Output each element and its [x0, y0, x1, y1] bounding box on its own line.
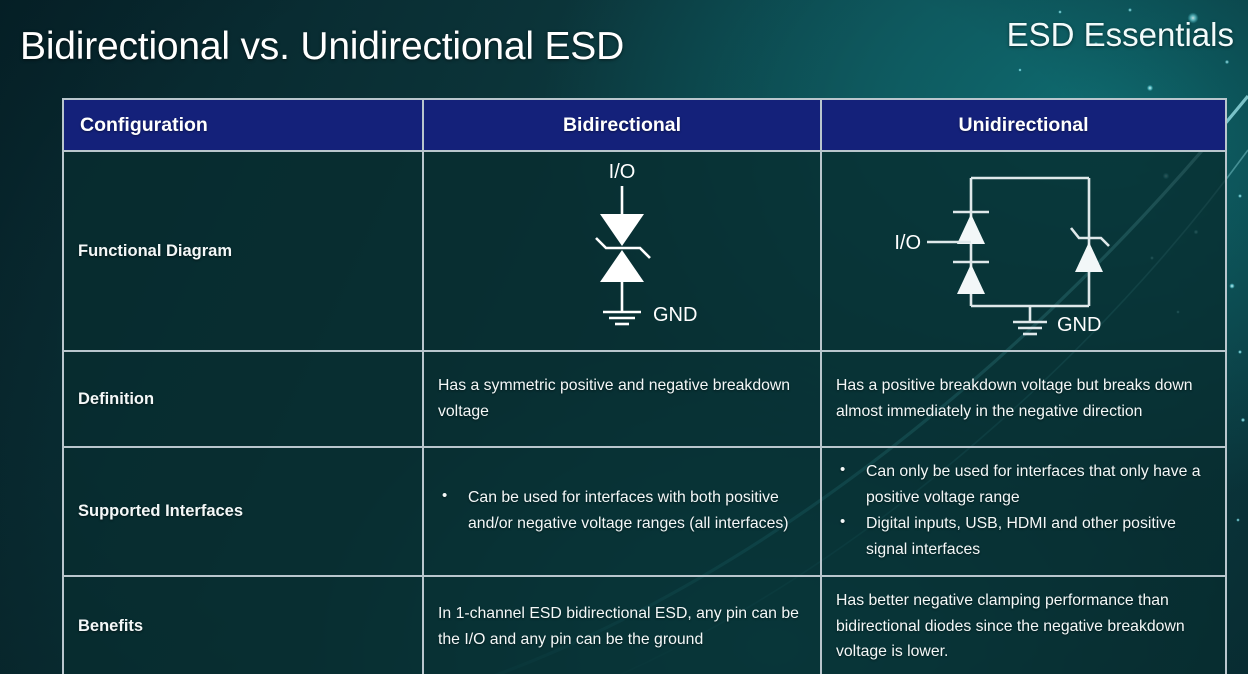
list-item: Can only be used for interfaces that onl… — [836, 459, 1211, 510]
cell-definition-unidirectional: Has a positive breakdown voltage but bre… — [821, 351, 1226, 447]
cell-bidirectional-diagram: I/O GN — [423, 151, 821, 351]
page-title: Bidirectional vs. Unidirectional ESD — [20, 25, 624, 69]
table-row: Benefits In 1-channel ESD bidirectional … — [63, 576, 1226, 674]
cell-benefits-bidirectional: In 1-channel ESD bidirectional ESD, any … — [423, 576, 821, 674]
list-item: Can be used for interfaces with both pos… — [438, 485, 806, 536]
brand-label: ESD Essentials — [1007, 16, 1234, 54]
comparison-table: Configuration Bidirectional Unidirection… — [62, 98, 1227, 674]
row-label-supported-interfaces: Supported Interfaces — [63, 447, 423, 576]
gnd-label: GND — [1057, 314, 1101, 336]
table-row: Functional Diagram I/O — [63, 151, 1226, 351]
slide-header: Bidirectional vs. Unidirectional ESD ESD… — [0, 0, 1248, 96]
bidirectional-tvs-diode-schematic: I/O GN — [497, 156, 747, 346]
column-header-unidirectional: Unidirectional — [821, 99, 1226, 151]
list-item: Digital inputs, USB, HDMI and other posi… — [836, 511, 1211, 562]
cell-definition-bidirectional: Has a symmetric positive and negative br… — [423, 351, 821, 447]
table-body: Functional Diagram I/O — [63, 151, 1226, 674]
table-row: Supported Interfaces Can be used for int… — [63, 447, 1226, 576]
cell-supported-interfaces-unidirectional: Can only be used for interfaces that onl… — [821, 447, 1226, 576]
bullet-list: Can only be used for interfaces that onl… — [836, 459, 1211, 563]
row-label-definition: Definition — [63, 351, 423, 447]
table-header-row: Configuration Bidirectional Unidirection… — [63, 99, 1226, 151]
table-header: Configuration Bidirectional Unidirection… — [63, 99, 1226, 151]
table-row: Definition Has a symmetric positive and … — [63, 351, 1226, 447]
io-label: I/O — [894, 232, 921, 254]
bullet-list: Can be used for interfaces with both pos… — [438, 485, 806, 536]
row-label-benefits: Benefits — [63, 576, 423, 674]
column-header-bidirectional: Bidirectional — [423, 99, 821, 151]
row-label-functional-diagram: Functional Diagram — [63, 151, 423, 351]
cell-unidirectional-diagram: I/O GND — [821, 151, 1226, 351]
cell-benefits-unidirectional: Has better negative clamping performance… — [821, 576, 1226, 674]
column-header-configuration: Configuration — [63, 99, 423, 151]
unidirectional-esd-schematic: I/O GND — [889, 156, 1159, 346]
comparison-table-wrapper: Configuration Bidirectional Unidirection… — [62, 98, 1225, 662]
io-label: I/O — [609, 161, 636, 183]
gnd-label: GND — [653, 304, 697, 326]
cell-supported-interfaces-bidirectional: Can be used for interfaces with both pos… — [423, 447, 821, 576]
